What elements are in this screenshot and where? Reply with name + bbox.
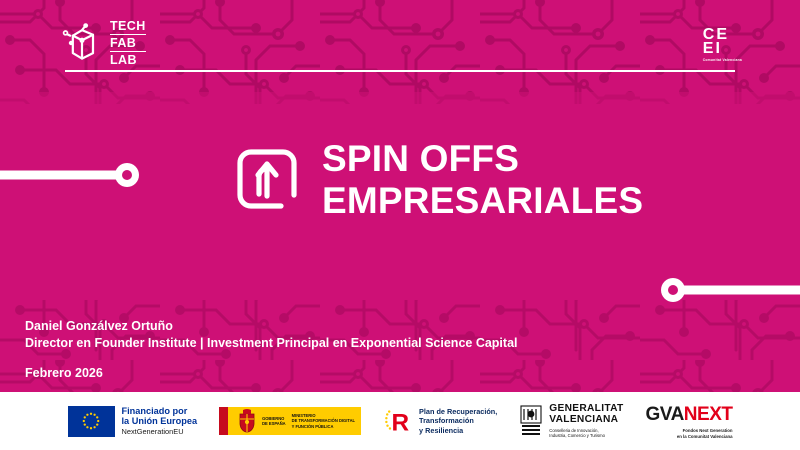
tfl-line-tech: TECH	[110, 20, 146, 34]
speaker-name: Daniel Gonzálvez Ortuño	[25, 318, 518, 335]
plan-recuperacion-text: Plan de Recuperación, Transformación y R…	[419, 407, 497, 436]
logo-gva-next: GVA NEXT Fondos Next Generation en la Co…	[646, 404, 733, 438]
decorative-trace-right	[650, 275, 800, 305]
generalitat-crest-icon	[519, 405, 543, 437]
gvanext-subtitle: Fondos Next Generation en la Comunitat V…	[677, 428, 733, 440]
conselleria-subtitle: Conselleria de Innovación, Industria, Co…	[549, 428, 623, 439]
slide-title-block: SPIN OFFS EMPRESARIALES	[234, 138, 643, 222]
title-line-2: EMPRESARIALES	[322, 180, 643, 222]
generalitat-title: GENERALITAT VALENCIANA	[549, 403, 623, 426]
prtr-r-icon: R	[383, 406, 413, 436]
header-divider	[65, 70, 735, 72]
footer-logo-strip: Financiado por la Unión Europea NextGene…	[0, 392, 800, 450]
gobierno-text: GOBIERNO DE ESPAÑA	[262, 416, 286, 427]
eu-flag-icon	[68, 406, 115, 437]
presentation-slide: TECH FAB LAB CE EI Comunitat Valenciana …	[0, 0, 800, 450]
decorative-trace-left	[0, 160, 150, 190]
speaker-role: Director en Founder Institute | Investme…	[25, 335, 518, 352]
logo-generalitat-valenciana: GENERALITAT VALENCIANA Conselleria de In…	[519, 404, 623, 438]
logo-eu-funding: Financiado por la Unión Europea NextGene…	[68, 404, 198, 438]
eu-subtitle: NextGenerationEU	[122, 428, 198, 436]
ceei-line-ei: EI	[703, 42, 742, 56]
up-arrow-rounded-square-icon	[234, 146, 300, 212]
circuit-board-background	[0, 0, 800, 450]
ministerio-text: MINISTERIO DE TRANSFORMACIÓN DIGITAL Y F…	[292, 413, 355, 429]
ceei-logo: CE EI Comunitat Valenciana	[703, 28, 742, 63]
speaker-block: Daniel Gonzálvez Ortuño Director en Foun…	[25, 318, 518, 380]
spain-flag-stripe	[219, 407, 228, 435]
presentation-date: Febrero 2026	[25, 366, 518, 380]
spain-flag-gap	[228, 407, 232, 435]
logo-gobierno-espana: GOBIERNO DE ESPAÑA MINISTERIO DE TRANSFO…	[219, 404, 361, 438]
logo-plan-recuperacion: R Plan de Recuperación, Transformación y…	[383, 404, 497, 438]
cube-circuit-icon	[60, 21, 104, 65]
spain-coat-of-arms-icon	[236, 408, 258, 434]
tech-fab-lab-wordmark: TECH FAB LAB	[110, 20, 146, 67]
ceei-subtitle: Comunitat Valenciana	[703, 58, 742, 63]
title-line-1: SPIN OFFS	[322, 138, 643, 180]
gvanext-next: NEXT	[684, 404, 733, 426]
tech-fab-lab-logo: TECH FAB LAB	[60, 20, 146, 67]
eu-title-line-2: la Unión Europea	[122, 416, 198, 426]
page-title: SPIN OFFS EMPRESARIALES	[322, 138, 643, 222]
tfl-line-fab: FAB	[110, 34, 146, 53]
tfl-line-lab: LAB	[110, 52, 146, 67]
svg-text:R: R	[391, 409, 409, 436]
eu-title-line-1: Financiado por	[122, 406, 198, 416]
gvanext-gva: GVA	[646, 404, 684, 426]
